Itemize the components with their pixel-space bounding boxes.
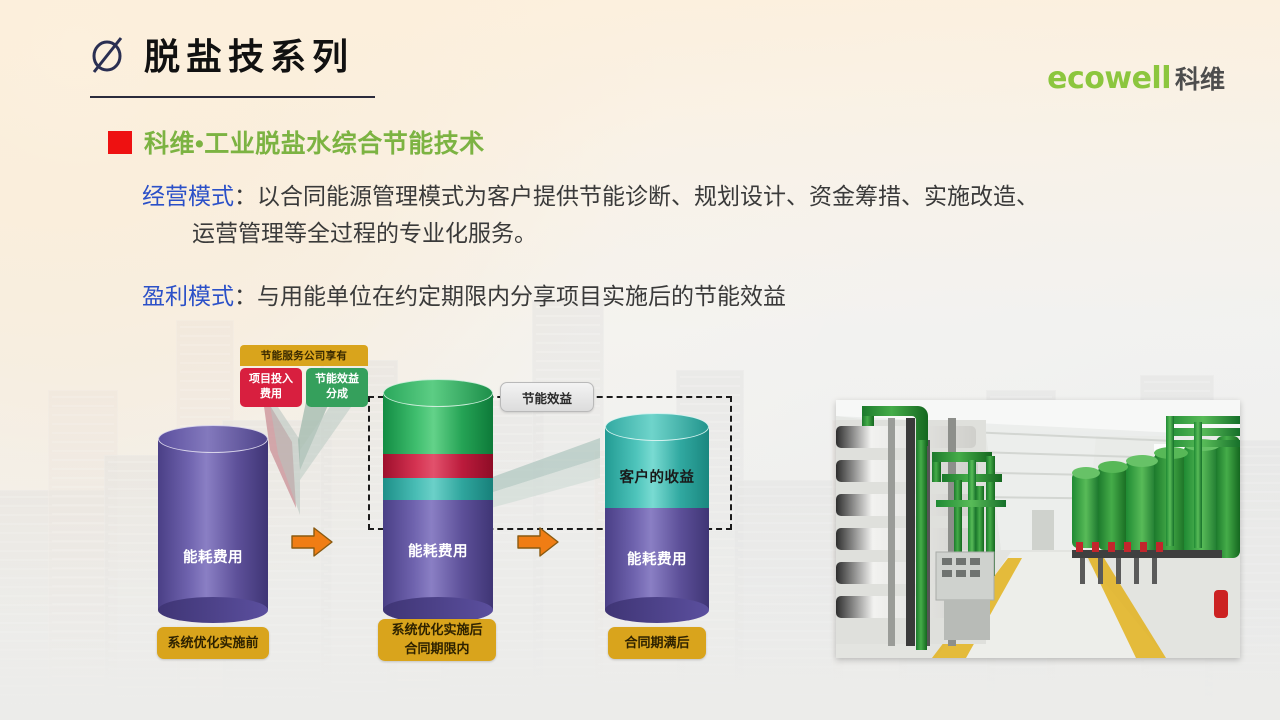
cylinder-before-segment-energy <box>158 438 268 610</box>
paragraph-profit-model: 盈利模式：与用能单位在约定期限内分享项目实施后的节能效益 <box>142 278 1042 315</box>
legend-cell-savings-share: 节能效益 分成 <box>306 368 368 407</box>
legend-cells: 项目投入 费用 节能效益 分成 <box>240 368 368 407</box>
footer-tag-during: 系统优化实施后 合同期限内 <box>378 619 496 661</box>
arrow-right-icon-2 <box>516 525 560 559</box>
red-square-bullet-icon <box>108 131 132 154</box>
cylinder-after-contract: 客户的收益 能耗费用 <box>605 426 709 610</box>
slide-root: 脱盐技系列 ecowell 科维 科维•工业脱盐水综合节能技术 经营模式：以合同… <box>0 0 1280 720</box>
brand-logo: ecowell 科维 <box>1047 60 1225 96</box>
paragraph-text-2-line1: 与用能单位在约定期限内分享项目实施后的节能效益 <box>257 283 786 309</box>
footer-tag-during-line2: 合同期限内 <box>404 640 469 659</box>
cylinder-during-label: 能耗费用 <box>383 540 493 561</box>
legend-box: 节能服务公司享有 项目投入 费用 节能效益 分成 <box>240 345 368 407</box>
legend-cell-project-cost-line1: 项目投入 <box>240 372 302 387</box>
footer-tag-after: 合同期满后 <box>608 627 706 659</box>
energy-savings-diagram: 节能服务公司享有 项目投入 费用 节能效益 分成 节能效益 能耗 <box>0 330 840 690</box>
paragraph-text-1-line1: 以合同能源管理模式为客户提供节能诊断、规划设计、资金筹措、实施改造、 <box>257 183 1039 209</box>
cylinder-before-label: 能耗费用 <box>158 546 268 567</box>
arrow-right-icon-1 <box>290 525 334 559</box>
footer-tag-after-line1: 合同期满后 <box>624 634 689 653</box>
cylinder-during-contract: 能耗费用 <box>383 392 493 610</box>
section-heading-row: 科维•工业脱盐水综合节能技术 <box>108 124 485 160</box>
paragraph-separator-1: ： <box>234 183 257 209</box>
paragraph-business-model: 经营模式：以合同能源管理模式为客户提供节能诊断、规划设计、资金筹措、实施改造、 … <box>142 178 1222 253</box>
cylinder-during-segment-green <box>383 392 493 454</box>
paragraph-label-2: 盈利模式 <box>142 283 234 309</box>
cylinder-during-segment-teal <box>383 478 493 500</box>
legend-cell-savings-share-line2: 分成 <box>306 387 368 402</box>
logo-text-en: ecowell <box>1047 61 1171 96</box>
diameter-slash-icon <box>88 32 128 76</box>
legend-cell-project-cost: 项目投入 费用 <box>240 368 302 407</box>
footer-tag-before-line1: 系统优化实施前 <box>167 634 258 653</box>
paragraph-separator-2: ： <box>234 283 257 309</box>
footer-tag-during-line1: 系统优化实施后 <box>391 621 482 640</box>
benefit-region-label: 节能效益 <box>500 382 594 412</box>
footer-tag-before: 系统优化实施前 <box>157 627 269 659</box>
cylinder-during-segment-red <box>383 454 493 478</box>
cylinder-before: 能耗费用 <box>158 438 268 610</box>
page-title: 脱盐技系列 <box>144 28 354 80</box>
paragraph-label-1: 经营模式 <box>142 183 234 209</box>
logo-text-cn: 科维 <box>1175 60 1225 96</box>
paragraph-text-1-line2: 运营管理等全过程的专业化服务。 <box>192 215 1222 252</box>
legend-cell-savings-share-line1: 节能效益 <box>306 372 368 387</box>
cylinder-after-benefit-label: 客户的收益 <box>605 466 709 487</box>
plant-photo-illustration <box>836 400 1240 658</box>
legend-cell-project-cost-line2: 费用 <box>240 387 302 402</box>
title-underline <box>90 96 375 98</box>
plant-photo <box>836 400 1240 658</box>
section-heading: 科维•工业脱盐水综合节能技术 <box>144 124 485 160</box>
cylinder-after-energy-label: 能耗费用 <box>605 548 709 569</box>
legend-header: 节能服务公司享有 <box>240 345 368 366</box>
page-title-row: 脱盐技系列 <box>88 28 354 80</box>
